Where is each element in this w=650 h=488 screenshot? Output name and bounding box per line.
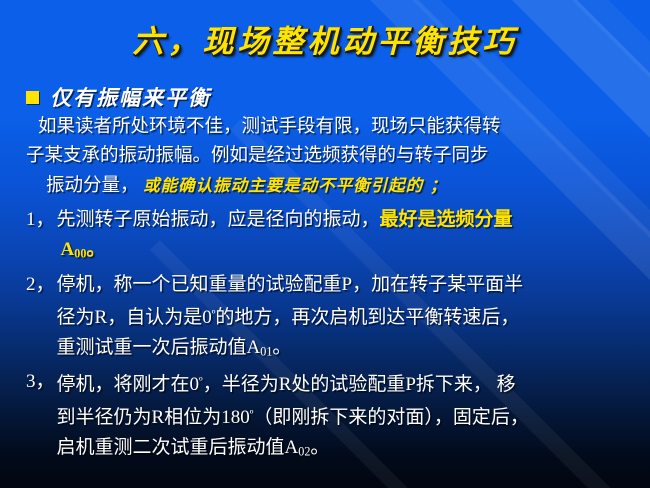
list-item: 1， 先测转子原始振动，应是径向的振动，最好是选频分量 A00。 [0,205,650,269]
item3-line1-a: 停机，将刚才在0 [57,374,200,395]
list-item-body: 停机，将刚才在0º，半径为R处的试验配重P拆下来， 移 到半径仍为R相位为180… [57,367,650,467]
list-item-number: 2， [26,270,57,367]
item3-subscript: 02 [298,445,310,459]
item3-line2-a: 到半径仍为R相位为180 [57,407,250,428]
list-item-line: 停机，称一个已知重量的试验配重P，加在转子某平面半 [57,270,650,300]
item2-subscript: 01 [260,344,272,358]
square-bullet-icon [26,91,39,104]
intro-line-3: 振动分量， 或能确认振动主要是动不平衡引起的 ； [0,171,650,201]
presentation-slide: 六，现场整机动平衡技巧 仅有振幅来平衡 如果读者所处环境不佳，测试手段有限，现场… [0,0,650,488]
intro-line-3-plain: 振动分量， [46,176,139,196]
list-item-body: 停机，称一个已知重量的试验配重P，加在转子某平面半 径为R，自认为是0º的地方，… [57,270,650,367]
item1-line1-plain: 先测转子原始振动，应是径向的振动， [57,209,380,230]
list-item-line: 启机重测二次试重后振动值A02。 [57,433,650,467]
item3-line1-b: ，半径为R处的试验配重P拆下来， 移 [203,374,516,395]
item1-symbol: A [61,239,75,260]
item1-line1-highlight: 最好是选频分量 [380,209,513,230]
item3-line2-b: （即刚拆下来的对面），固定后， [253,407,529,428]
item1-subscript: 00 [74,247,86,261]
item2-line3-b: 。 [272,337,291,358]
section-heading-label: 仅有振幅来平衡 [50,82,211,112]
item2-line2-a: 径为R，自认为是0 [57,307,212,328]
item2-line2-b: 的地方，再次启机到达平衡转速后， [215,307,519,328]
slide-body: 如果读者所处环境不佳，测试手段有限，现场只能获得转 子某支承的振动振幅。例如是经… [0,113,650,467]
list-item-number: 3， [26,367,57,467]
page-title: 六，现场整机动平衡技巧 [133,16,518,61]
list-item-number: 1， [26,205,57,269]
list-item-line: 到半径仍为R相位为180º（即刚拆下来的对面），固定后， [57,400,650,433]
intro-line-2: 子某支承的振动振幅。例如是经过选频获得的与转子同步 [0,142,650,171]
slide-title-container: 六，现场整机动平衡技巧 [0,16,650,61]
list-item: 2， 停机，称一个已知重量的试验配重P，加在转子某平面半 径为R，自认为是0º的… [0,270,650,367]
list-item-line: 径为R，自认为是0º的地方，再次启机到达平衡转速后， [57,300,650,333]
intro-line-3-highlight: 或能确认振动主要是动不平衡引起的 ； [143,176,447,195]
item3-line3-b: 。 [310,437,329,458]
list-item-body: 先测转子原始振动，应是径向的振动，最好是选频分量 A00。 [57,205,650,269]
section-heading: 仅有振幅来平衡 [26,82,211,112]
list-item-line: 停机，将刚才在0º，半径为R处的试验配重P拆下来， 移 [57,367,650,400]
item3-line3-a: 启机重测二次试重后振动值A [57,437,299,458]
list-item-line: 重测试重一次后振动值A01。 [57,333,650,367]
intro-line-1: 如果读者所处环境不佳，测试手段有限，现场只能获得转 [0,113,650,142]
list-item-line: 先测转子原始振动，应是径向的振动，最好是选频分量 [57,209,513,230]
item2-line3-a: 重测试重一次后振动值A [57,337,261,358]
list-item: 3， 停机，将刚才在0º，半径为R处的试验配重P拆下来， 移 到半径仍为R相位为… [0,367,650,467]
item1-tail: 。 [86,239,105,260]
list-item-line: A00。 [57,235,650,269]
